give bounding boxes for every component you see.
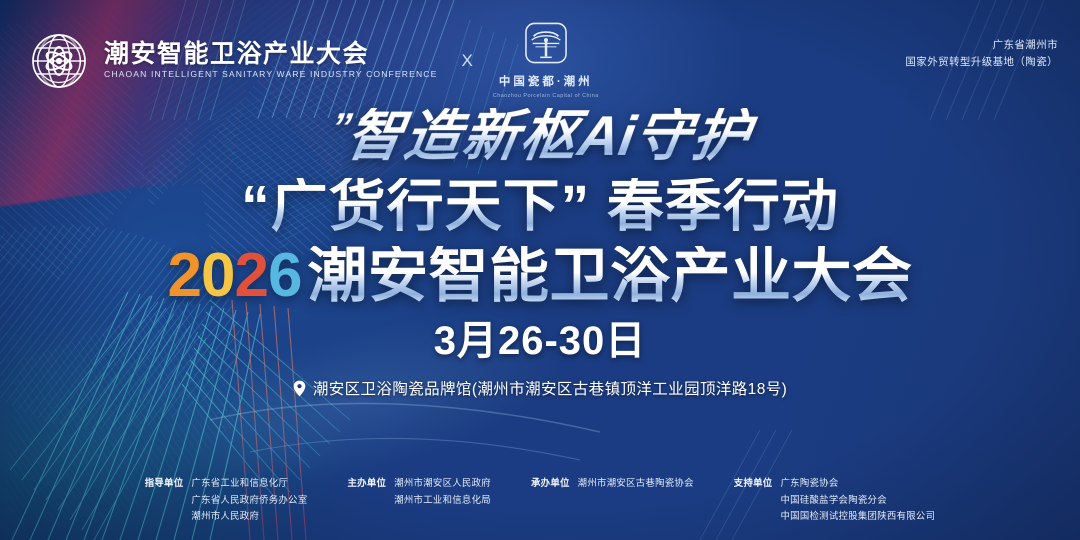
credit-block-3: 支持单位广东陶瓷协会中国硅酸盐学会陶瓷分会中国国检测试控股集团陕西有限公司 [734,475,936,524]
slogan-ai: Ai [574,104,640,167]
credit-label: 主办单位 [348,475,387,491]
year-digit-2: 2 [235,245,268,307]
slogan-part-a: 智造新枢 [342,104,584,167]
region-caption-line2: 国家外贸转型升级基地（陶瓷） [905,54,1058,71]
slogan-part-b: 守护 [630,104,756,167]
partner-logo: 中国瓷都·潮州 Chaozhou Porcelain Capital of Ch… [493,22,599,99]
credit-value: 潮州市潮安区古巷陶瓷协会 [578,475,694,491]
credit-label: 指导单位 [145,475,184,491]
pavilion-bridge-icon [521,22,571,69]
credit-value: 中国硅酸盐学会陶瓷分会 [780,492,935,508]
credit-block-1: 主办单位潮州市潮安区人民政府潮州市工业和信息化局 [348,475,491,524]
event-venue: 潮安区卫浴陶瓷品牌馆(潮州市潮安区古巷镇顶洋工业园顶洋路18号) [0,377,1080,399]
credit-label: 支持单位 [734,475,773,491]
year-digit-1: 0 [201,245,234,307]
conference-poster: 潮安智能卫浴产业大会 CHAOAN INTELLIGENT SANITARY W… [0,0,1080,540]
location-pin-icon [293,380,306,397]
credit-block-0: 指导单位广东省工业和信息化厅广东省人民政府侨务办公室潮州市人民政府 [145,475,308,524]
credit-values: 广东省工业和信息化厅广东省人民政府侨务办公室潮州市人民政府 [191,475,307,524]
light-sweeps [210,403,600,460]
credit-value: 中国国检测试控股集团陕西有限公司 [780,508,935,524]
conference-title-cn: 潮安智能卫浴产业大会 [307,246,912,306]
credit-values: 潮州市潮安区古巷陶瓷协会 [578,475,694,491]
year-2026: 2026 [168,245,302,307]
region-caption: 广东省潮州市 国家外贸转型升级基地（陶瓷） [905,37,1058,71]
credit-value: 潮州市人民政府 [191,508,307,524]
partner-name-en: Chaozhou Porcelain Capital of China [493,93,599,99]
credit-value: 广东省工业和信息化厅 [191,475,307,491]
year-digit-3: 6 [268,245,301,307]
organizer-credits: 指导单位广东省工业和信息化厅广东省人民政府侨务办公室潮州市人民政府主办单位潮州市… [0,475,1080,524]
slogan-line-2: “广货行天下” 春季行动 [0,178,1080,235]
logo-separator: X [461,51,472,71]
slogan-line-1: ”智造新枢Ai守护 [315,108,765,164]
header-logos: 潮安智能卫浴产业大会 CHAOAN INTELLIGENT SANITARY W… [28,22,599,99]
credit-value: 潮州市工业和信息化局 [394,492,491,508]
brand-name-en: CHAOAN INTELLIGENT SANITARY WARE INDUSTR… [104,70,437,79]
brand-text: 潮安智能卫浴产业大会 CHAOAN INTELLIGENT SANITARY W… [104,42,437,79]
title-line: 2026 潮安智能卫浴产业大会 [0,245,1080,307]
credit-value: 广东省人民政府侨务办公室 [191,492,307,508]
venue-text: 潮安区卫浴陶瓷品牌馆(潮州市潮安区古巷镇顶洋工业园顶洋路18号) [313,377,787,399]
event-date: 3月26-30日 [0,321,1080,361]
credit-values: 广东陶瓷协会中国硅酸盐学会陶瓷分会中国国检测试控股集团陕西有限公司 [780,475,935,524]
region-caption-line1: 广东省潮州市 [905,37,1058,54]
poster-main: ”智造新枢Ai守护 “广货行天下” 春季行动 2026 潮安智能卫浴产业大会 3… [0,108,1080,399]
year-digit-0: 2 [168,245,201,307]
credit-value: 潮州市潮安区人民政府 [394,475,491,491]
atom-globe-icon [28,30,90,92]
credit-values: 潮州市潮安区人民政府潮州市工业和信息化局 [394,475,491,507]
brand-name-cn: 潮安智能卫浴产业大会 [104,42,437,67]
partner-name-cn: 中国瓷都·潮州 [499,73,593,89]
credit-label: 承办单位 [531,475,570,491]
credit-block-2: 承办单位潮州市潮安区古巷陶瓷协会 [531,475,694,524]
credit-value: 广东陶瓷协会 [780,475,935,491]
